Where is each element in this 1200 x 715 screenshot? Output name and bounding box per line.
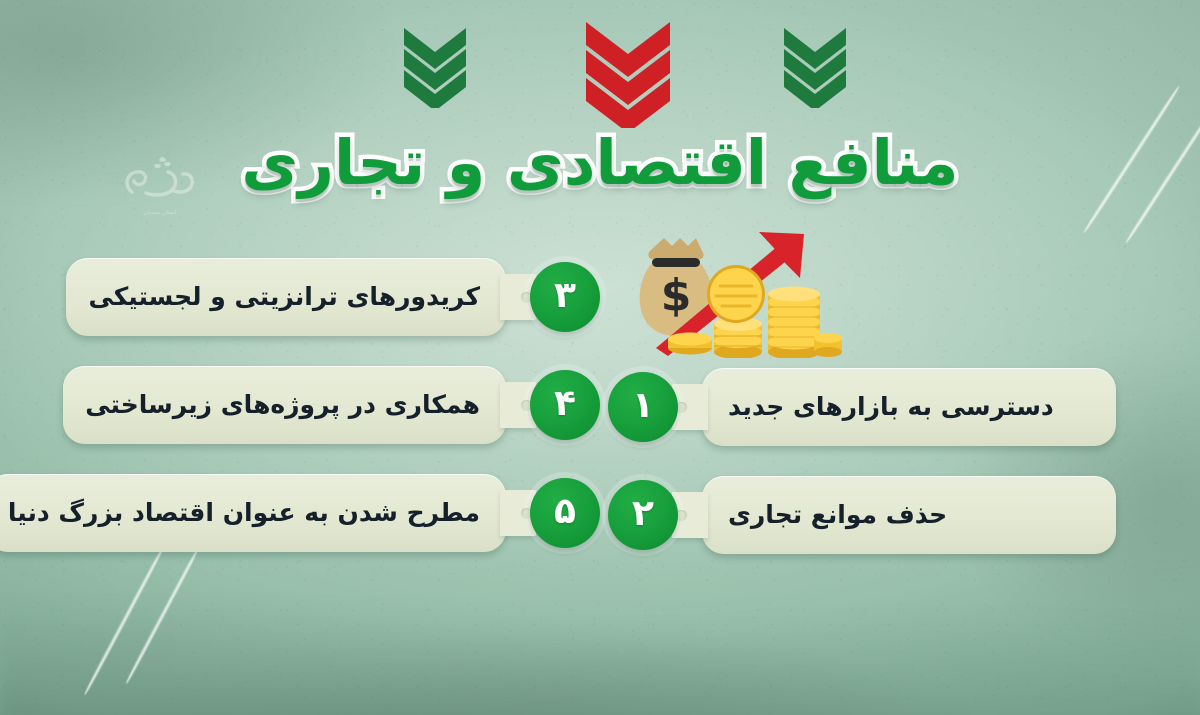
item-number-badge: ۳ [530, 262, 600, 332]
item-label: کریدورهای ترانزیتی و لجستیکی [66, 281, 506, 312]
items-column-right: ۱ دسترسی به بازارهای جدید ۲ حذف موانع تج… [608, 368, 1116, 554]
item-pill[interactable]: مطرح شدن به عنوان اقتصاد بزرگ دنیا [0, 474, 506, 552]
chevron-stack-left-icon [404, 28, 466, 108]
watermark-caption: استان سمنان [110, 209, 210, 216]
gold-coin [707, 265, 765, 323]
item-label: دسترسی به بازارهای جدید [702, 391, 1116, 422]
item-label: مطرح شدن به عنوان اقتصاد بزرگ دنیا [0, 497, 506, 528]
decorative-streak-bottom-left-1 [82, 544, 166, 696]
item-pill[interactable]: حذف موانع تجاری [702, 476, 1116, 554]
item-label: حذف موانع تجاری [702, 499, 1116, 530]
item-pill[interactable]: همکاری در پروژه‌های زیرساختی [63, 366, 506, 444]
money-growth-illustration: $ [628, 228, 843, 358]
item-pill[interactable]: دسترسی به بازارهای جدید [702, 368, 1116, 446]
item-number-badge: ۱ [608, 372, 678, 442]
list-item[interactable]: ۲ حذف موانع تجاری [608, 476, 1116, 554]
svg-text:$: $ [661, 270, 692, 321]
list-item[interactable]: ۴ همکاری در پروژه‌های زیرساختی [92, 366, 600, 444]
background-smudge-bottom [0, 565, 1200, 715]
item-number: ۳ [554, 278, 576, 314]
item-pill[interactable]: کریدورهای ترانزیتی و لجستیکی [66, 258, 506, 336]
item-number-badge: ۲ [608, 480, 678, 550]
chevron-stack-center-icon [586, 22, 670, 128]
item-number: ۵ [554, 494, 576, 530]
list-item[interactable]: ۱ دسترسی به بازارهای جدید [608, 368, 1116, 446]
list-item[interactable]: ۵ مطرح شدن به عنوان اقتصاد بزرگ دنیا [92, 474, 600, 552]
watermark-logo: استان سمنان [110, 152, 210, 218]
list-item[interactable]: ۳ کریدورهای ترانزیتی و لجستیکی [92, 258, 600, 336]
item-number-badge: ۵ [530, 478, 600, 548]
chevron-stack-right-icon [784, 28, 846, 108]
item-number-badge: ۴ [530, 370, 600, 440]
chevron-arrow-row [0, 0, 1200, 140]
items-column-left: ۳ کریدورهای ترانزیتی و لجستیکی ۴ همکاری … [92, 258, 600, 552]
infographic-poster: استان سمنان منافع اقتصادی و تجاری $ [0, 0, 1200, 715]
item-number: ۱ [632, 388, 654, 424]
decorative-streak-bottom-left-2 [124, 546, 201, 685]
item-number: ۲ [632, 496, 654, 532]
item-label: همکاری در پروژه‌های زیرساختی [63, 389, 506, 420]
item-number: ۴ [554, 386, 576, 422]
